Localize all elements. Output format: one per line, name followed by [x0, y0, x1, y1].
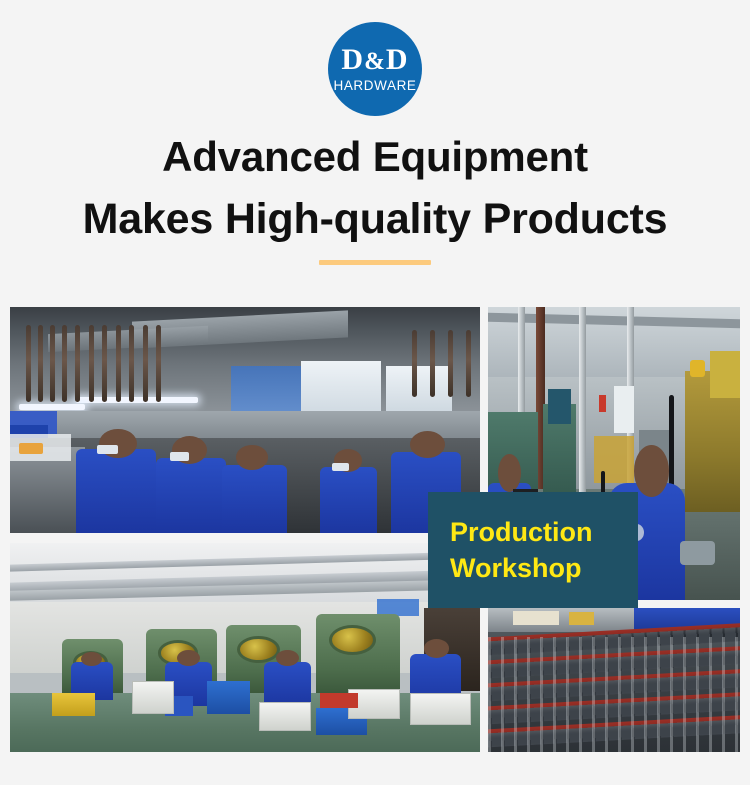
- production-workshop-badge: Production Workshop: [428, 492, 638, 608]
- title-divider: [319, 260, 431, 265]
- promo-banner: D&D HARDWARE Advanced Equipment Makes Hi…: [0, 0, 750, 785]
- badge-line-2: Workshop: [450, 550, 638, 586]
- logo-subtitle: HARDWARE: [333, 79, 416, 93]
- photo-hinge-plates: [488, 608, 740, 752]
- photo-punch-press-hall: [10, 543, 480, 752]
- logo-brand-ampersand: &: [364, 48, 386, 75]
- logo-brand-text: D&D: [341, 45, 408, 75]
- headline-line-1: Advanced Equipment: [0, 126, 750, 188]
- badge-line-1: Production: [450, 514, 638, 550]
- logo-brand-d1: D: [341, 43, 364, 76]
- logo-area: D&D HARDWARE: [0, 22, 750, 116]
- page-title: Advanced Equipment Makes High-quality Pr…: [0, 126, 750, 250]
- headline-line-2: Makes High-quality Products: [0, 188, 750, 250]
- photo-assembly-line: [10, 307, 480, 533]
- gallery-left-column: [10, 307, 480, 752]
- logo-brand-d2: D: [386, 43, 409, 76]
- dd-hardware-logo: D&D HARDWARE: [328, 22, 422, 116]
